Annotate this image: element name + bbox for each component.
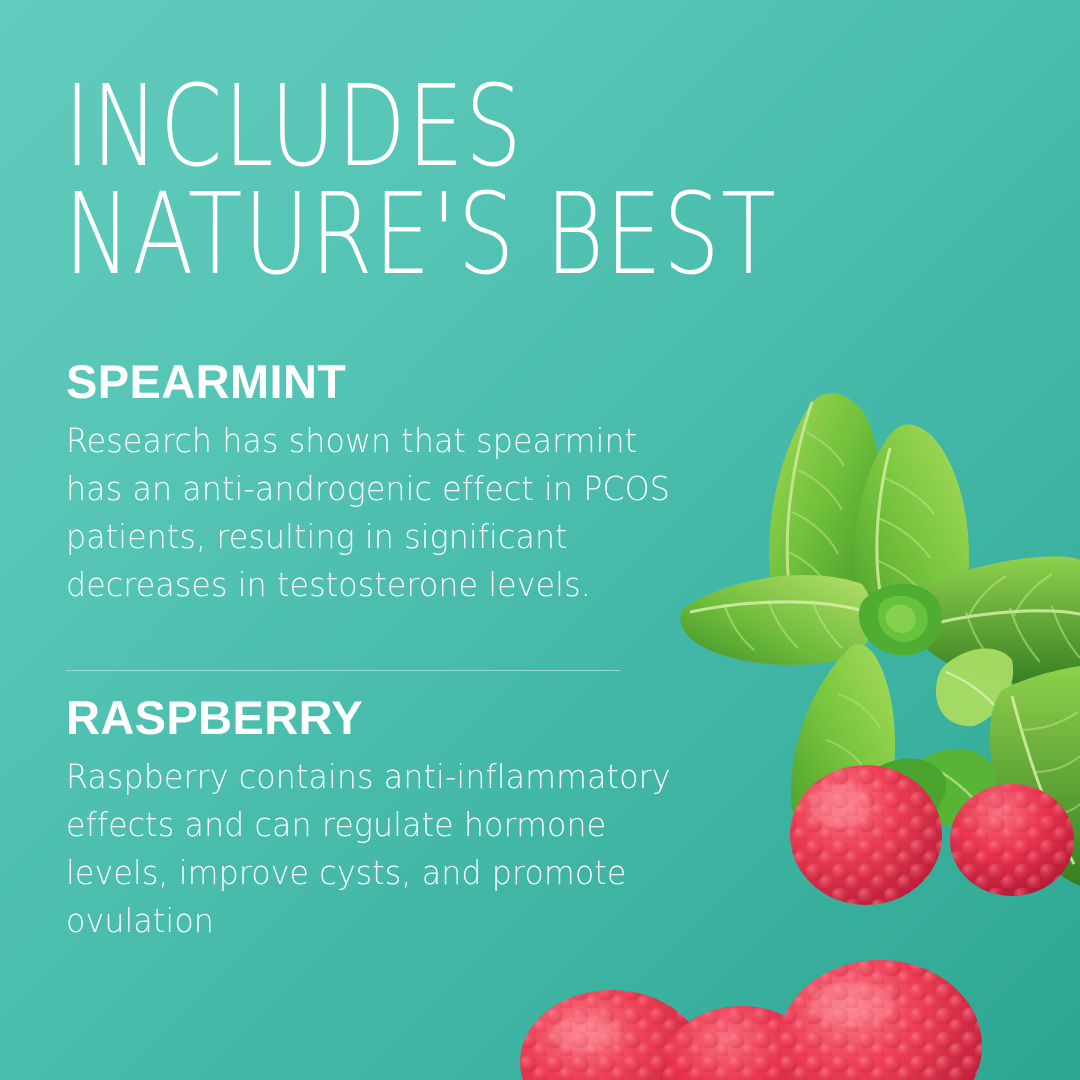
section-title-raspberry: RASPBERRY: [66, 694, 706, 741]
section-title-spearmint: SPEARMINT: [66, 358, 706, 405]
section-body-spearmint: Research has shown that spearmint has an…: [66, 417, 680, 609]
page-title: INCLUDES NATURE'S BEST: [64, 74, 784, 289]
poster-content: INCLUDES NATURE'S BEST SPEARMINT Researc…: [0, 0, 1080, 1080]
poster-canvas: INCLUDES NATURE'S BEST SPEARMINT Researc…: [0, 0, 1080, 1080]
section-spearmint: SPEARMINT Research has shown that spearm…: [66, 358, 706, 609]
section-divider: [66, 670, 620, 671]
section-body-raspberry: Raspberry contains anti-inflammatory eff…: [66, 753, 680, 945]
section-raspberry: RASPBERRY Raspberry contains anti-inflam…: [66, 694, 706, 945]
